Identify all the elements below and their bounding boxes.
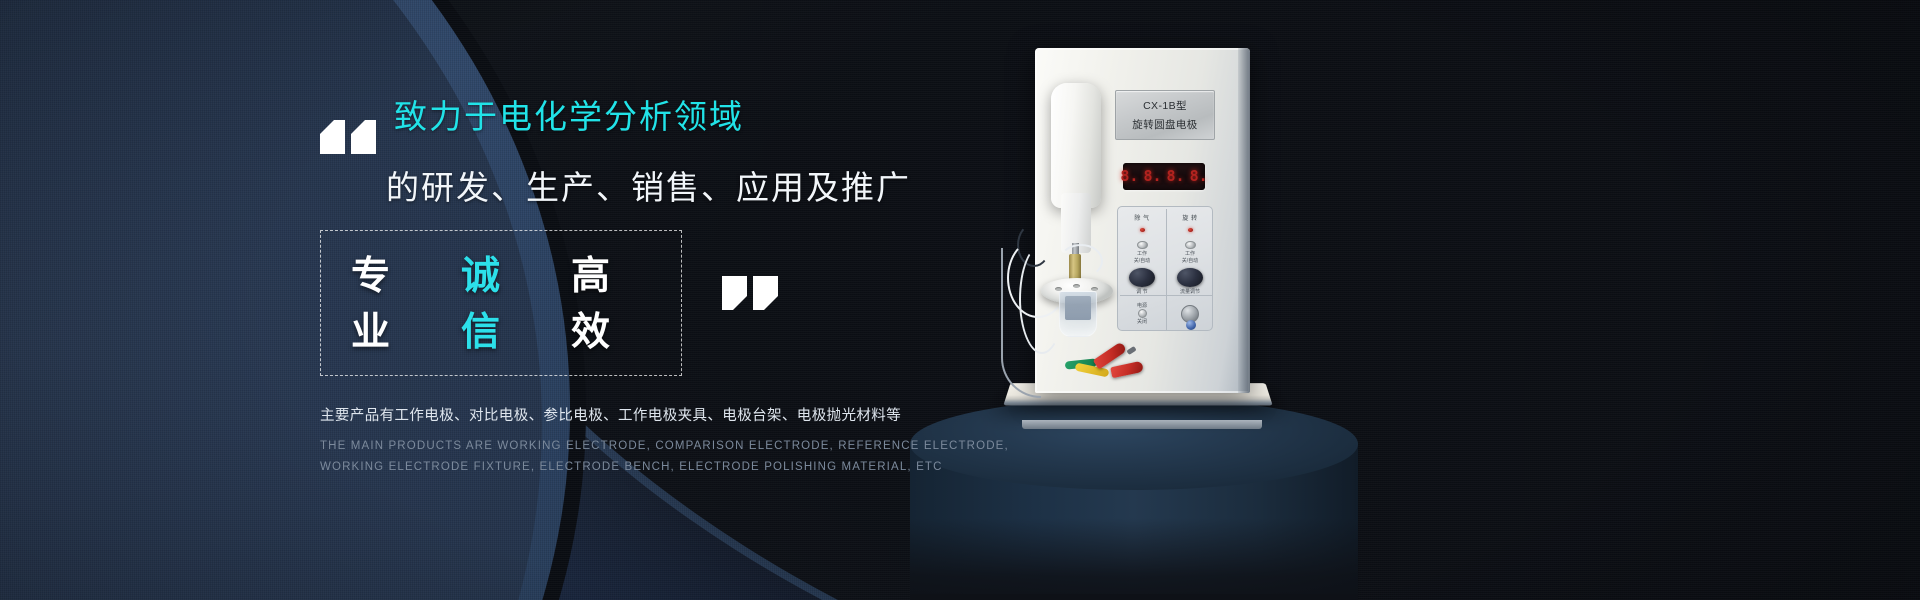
switch-caption-degas: 工作关/自动 <box>1134 251 1150 264</box>
panel-power-section: 电源 关闭 <box>1118 296 1166 331</box>
knob-degas-adjust[interactable] <box>1129 268 1155 287</box>
led-digit-3: 8. <box>1167 169 1185 184</box>
led-digit-1: 8. <box>1120 169 1138 184</box>
indicator-led-rotation <box>1188 228 1193 232</box>
power-caption-on: 电源 <box>1137 302 1147 309</box>
gas-inlet-port-tip <box>1186 320 1196 330</box>
panel-label-degas: 除 气 <box>1134 213 1149 222</box>
headline-line-2: 的研发、生产、销售、应用及推广 <box>386 167 1020 210</box>
device-nameplate: CX-1B型 旋转圆盘电极 <box>1115 90 1215 140</box>
device-control-panel: 除 气 工作关/自动 调 节 旋 转 工作关/自动 流量调节 <box>1117 206 1213 331</box>
description-english-line-1: THE MAIN PRODUCTS ARE WORKING ELECTRODE,… <box>320 436 1020 457</box>
description-english-line-2: WORKING ELECTRODE FIXTURE, ELECTRODE BEN… <box>320 457 1020 478</box>
cell-electrolyte <box>1065 296 1091 320</box>
panel-label-rotation: 旋 转 <box>1182 213 1197 222</box>
rotating-disk-electrode-device: CX-1B型 旋转圆盘电极 8. 8. 8. 8. 除 气 工作关/自动 <box>1015 48 1285 448</box>
switch-caption-rotation: 工作关/自动 <box>1182 251 1198 264</box>
knob-caption-degas: 调 节 <box>1136 288 1147 295</box>
hero-banner: CX-1B型 旋转圆盘电极 8. 8. 8. 8. 除 气 工作关/自动 <box>0 0 1920 600</box>
toggle-switch-rotation[interactable] <box>1185 241 1196 250</box>
quote-close-icon <box>722 276 778 315</box>
slogan-box: 专业 诚信 高效 <box>320 230 682 376</box>
nameplate-model: CX-1B型 <box>1143 98 1187 113</box>
pedestal-fade <box>910 518 1358 600</box>
device-base-plate-edge <box>1022 420 1262 429</box>
headline-line-1: 致力于电化学分析领域 <box>394 96 744 137</box>
power-caption-off: 关闭 <box>1137 318 1147 325</box>
headline-text-block: 致力于电化学分析领域 <box>394 96 744 137</box>
toggle-switch-degas[interactable] <box>1137 241 1148 250</box>
power-switch[interactable] <box>1138 309 1147 318</box>
panel-section-rotation: 旋 转 工作关/自动 流量调节 <box>1166 207 1214 295</box>
nameplate-description: 旋转圆盘电极 <box>1132 117 1197 132</box>
panel-bottom-row: 电源 关闭 <box>1118 296 1214 331</box>
rotator-motor-housing <box>1051 83 1101 208</box>
led-digit-4: 8. <box>1190 169 1208 184</box>
description-english: THE MAIN PRODUCTS ARE WORKING ELECTRODE,… <box>320 436 1020 479</box>
slogan-row: 专业 诚信 高效 <box>320 230 1020 376</box>
gas-tube-loop <box>1059 244 1103 278</box>
slogan-word-3: 高效 <box>571 245 651 357</box>
banner-copy: 致力于电化学分析领域 的研发、生产、销售、应用及推广 专业 诚信 高效 主要产品… <box>320 96 1020 478</box>
console-right-edge <box>1238 48 1250 393</box>
device-led-display: 8. 8. 8. 8. <box>1123 163 1205 190</box>
knob-rotation-adjust[interactable] <box>1177 268 1203 287</box>
knob-caption-rotation: 流量调节 <box>1180 288 1200 295</box>
slogan-word-2: 诚信 <box>461 245 541 357</box>
panel-section-degas: 除 气 工作关/自动 调 节 <box>1118 207 1166 295</box>
led-digit-2: 8. <box>1143 169 1161 184</box>
indicator-led-degas <box>1140 228 1145 232</box>
description-chinese: 主要产品有工作电极、对比电极、参比电极、工作电极夹具、电极台架、电极抛光材料等 <box>320 404 1020 425</box>
gas-inlet-port[interactable] <box>1181 305 1199 323</box>
slogan-word-1: 专业 <box>351 245 431 357</box>
quote-open-icon <box>320 120 376 159</box>
panel-gas-port-section <box>1166 296 1214 331</box>
product-photo: CX-1B型 旋转圆盘电极 8. 8. 8. 8. 除 气 工作关/自动 <box>900 0 1920 600</box>
cell-cap-port-2 <box>1073 284 1080 288</box>
headline-row: 致力于电化学分析领域 <box>320 96 1020 159</box>
